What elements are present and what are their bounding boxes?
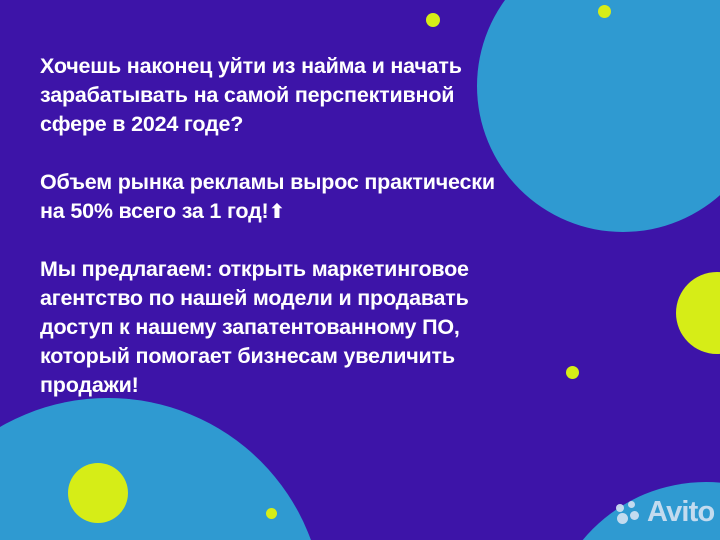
circle-blue-bottomleft-decoration: [0, 398, 324, 540]
avito-logo: Avito: [616, 498, 714, 527]
promo-banner: Хочешь наконец уйти из найма и начать за…: [0, 0, 720, 540]
avito-wordmark: Avito: [647, 498, 714, 527]
dot-yellow-mid-right-decoration: [566, 366, 579, 379]
dot-yellow-top-right-decoration: [598, 5, 611, 18]
arrow-up-icon: ⬆: [269, 201, 286, 223]
promo-copy-block: Хочешь наконец уйти из найма и начать за…: [40, 52, 560, 400]
circle-yellow-right-decoration: [676, 272, 720, 354]
dot-yellow-top-left-decoration: [426, 13, 440, 27]
promo-paragraph-1: Хочешь наконец уйти из найма и начать за…: [40, 52, 560, 139]
promo-paragraph-3: Мы предлагаем: открыть маркетинговое аге…: [40, 255, 560, 400]
promo-paragraph-2: Объем рынка рекламы вырос практически на…: [40, 168, 560, 226]
circle-yellow-bottomleft-decoration: [68, 463, 128, 523]
avito-dots-icon: [616, 501, 642, 525]
promo-paragraph-2-text: Объем рынка рекламы вырос практически на…: [40, 170, 495, 223]
dot-yellow-bottom-decoration: [266, 508, 277, 519]
